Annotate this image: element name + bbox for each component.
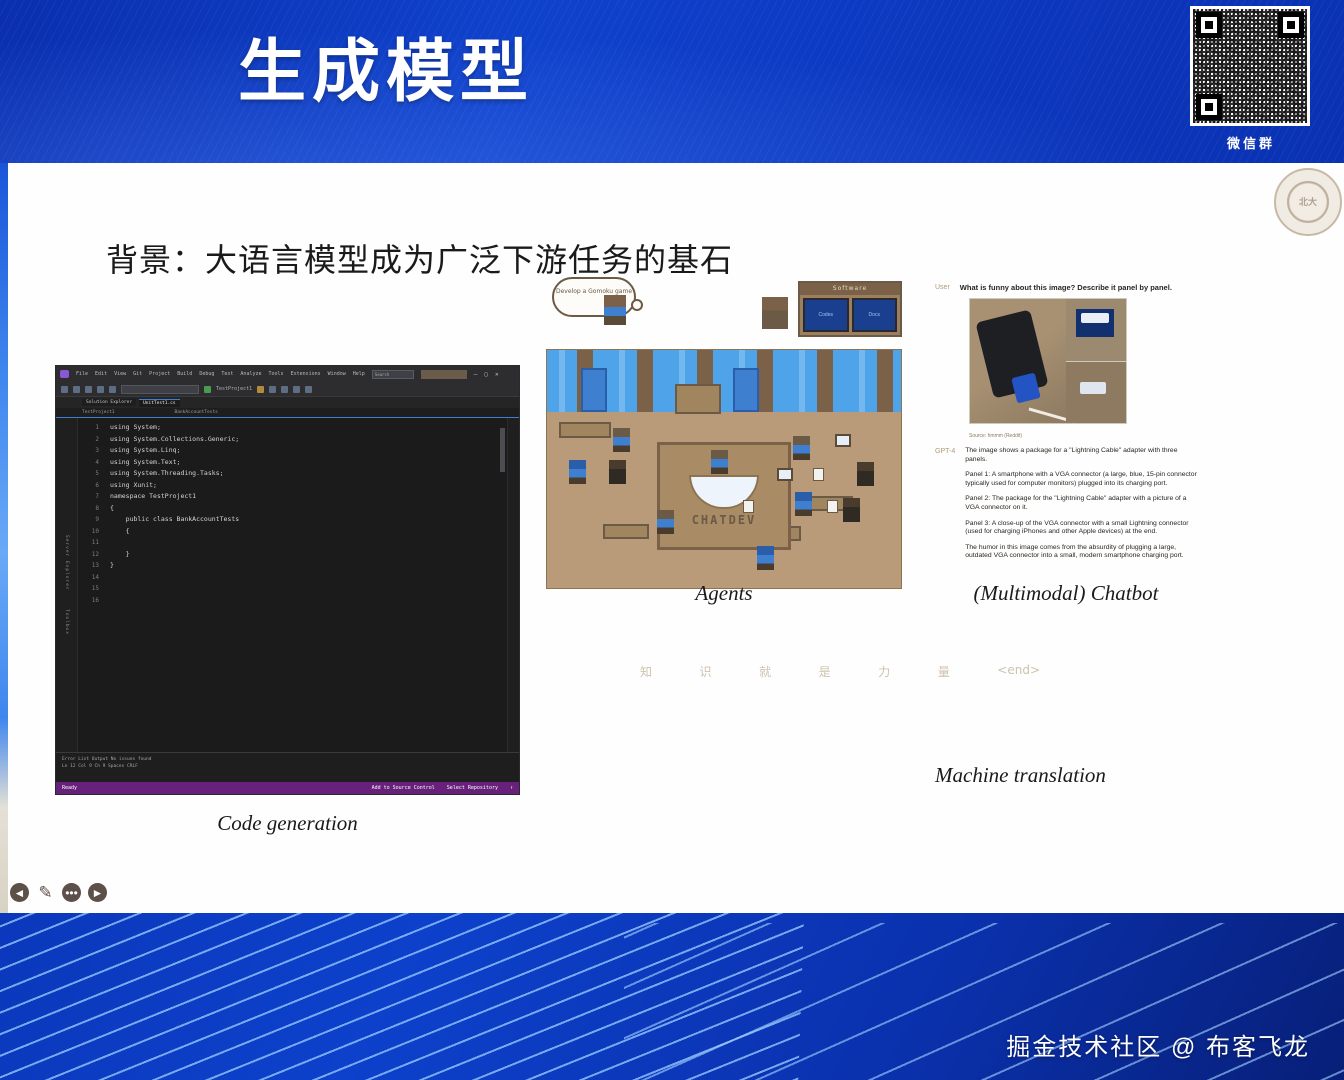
chat-assistant-turn: GPT-4 The image shows a package for a "L… [935,447,1197,568]
meme-panel-1 [970,299,1066,423]
pen-annotate-icon[interactable]: ✎ [36,883,55,902]
map-monitor [835,434,851,447]
line-number: 5 [78,468,104,480]
code-line: } [110,549,507,561]
agent-sprite-thinker [604,295,626,325]
ide-line-number-gutter: 1 2 3 4 5 6 7 8 9 10 11 12 13 14 15 16 [78,418,104,752]
map-door-left [581,368,607,412]
ide-menu-git[interactable]: Git [133,371,142,377]
ide-menu-help[interactable]: Help [353,371,365,377]
code-line: { [110,503,507,515]
wechat-qr-block[interactable]: 微信群 [1190,6,1312,152]
code-line: public class BankAccountTests [110,514,507,526]
line-number: 6 [78,480,104,492]
ide-tab-unittest1[interactable]: UnitTest1.cs [139,399,180,407]
line-number: 13 [78,560,104,572]
ide-menu-debug[interactable]: Debug [199,371,214,377]
agent-avatar [569,460,586,484]
footer-watermark: 掘金技术社区 @ 布客飞龙 [1006,1027,1310,1062]
ide-menu-view[interactable]: View [114,371,126,377]
ide-menu-edit[interactable]: Edit [95,371,107,377]
chat-figure-wrap: Source: hmmm (Reddit) [935,298,1197,439]
map-monitor [777,468,793,481]
configuration-dropdown[interactable] [121,385,199,394]
ide-error-list-panel: Error List Output No issues found Ln 12 … [56,752,519,782]
stop-icon[interactable] [269,386,276,393]
panel-agents: Develop a Gomoku game Software Codes Doc… [546,275,902,589]
map-door-center [733,368,759,412]
map-table-desk-left [603,524,649,539]
map-document-icon [813,468,824,481]
status-notifications-icon[interactable]: ↑ [510,785,513,791]
line-number: 2 [78,434,104,446]
software-screens: Codes Docs [800,295,900,335]
translation-token: 是 [819,663,831,680]
qr-finder-bottom-left [1196,94,1222,120]
ide-menu-window[interactable]: Window [328,371,346,377]
breadcrumb-namespace[interactable]: TestProject1 [82,410,115,415]
comment-icon[interactable] [281,386,288,393]
footer-banner: 掘金技术社区 @ 布客飞龙 [0,913,1344,1080]
line-number: 3 [78,445,104,457]
line-number: 14 [78,572,104,584]
screen-docs: Docs [852,298,898,332]
line-number: 4 [78,457,104,469]
run-play-icon[interactable] [204,386,211,393]
new-project-icon[interactable] [61,386,68,393]
meme-panel-2 [1066,299,1126,362]
line-number: 12 [78,549,104,561]
step-over-icon[interactable] [257,386,264,393]
next-slide-button[interactable]: ► [88,883,107,902]
qr-finder-top-left [1196,12,1222,38]
caption-code-generation: Code generation [55,811,520,836]
agents-upper-scene: Develop a Gomoku game Software Codes Doc… [546,275,902,349]
open-file-icon[interactable] [73,386,80,393]
translation-token: 量 [938,663,950,680]
caption-multimodal-chatbot: (Multimodal) Chatbot [935,581,1197,606]
save-all-icon[interactable] [97,386,104,393]
code-line: using System.Text; [110,457,507,469]
ide-maximize-button[interactable]: ▢ [484,371,488,378]
translation-token: 就 [759,663,771,680]
code-line [110,537,507,549]
figure-source-caption: Source: hmmm (Reddit) [969,433,1197,439]
agent-avatar [657,510,674,534]
agent-avatar [793,436,810,460]
code-line: using System.Collections.Generic; [110,434,507,446]
chat-assistant-body: The image shows a package for a "Lightni… [965,447,1197,568]
code-line: using System; [110,422,507,434]
agent-avatar [711,450,728,474]
caption-machine-translation: Machine translation [935,763,1315,788]
ide-close-button[interactable]: ✕ [495,371,499,378]
find-icon[interactable] [305,386,312,393]
chatdev-logo-text: CHATDEV [692,513,757,527]
vga-cable-meme-image [969,298,1127,424]
chat-user-turn: User What is funny about this image? Des… [935,283,1197,292]
ide-menu-test[interactable]: Test [221,371,233,377]
error-list-header: Error List Output No issues found [62,756,513,763]
slide-progress-rail[interactable] [0,163,8,913]
ide-tab-strip: Solution Explorer UnitTest1.cs [56,397,519,408]
visual-studio-logo-icon [60,370,69,378]
chat-user-label: User [935,283,950,291]
line-number: 9 [78,514,104,526]
ide-code-area[interactable]: using System; using System.Collections.G… [104,418,507,752]
header-banner: 生成模型 [0,0,1344,163]
page-title: 生成模型 [238,38,534,106]
translation-token: 识 [700,663,712,680]
seal-inner-glyph: 北大 [1287,181,1329,223]
lightning-cable-package [1076,309,1114,337]
bookmark-icon[interactable] [293,386,300,393]
ide-editor-body: Server Explorer Toolbox 1 2 3 4 5 6 7 8 … [56,418,519,752]
ide-toolbar: TestProject1 [56,382,519,397]
code-line: using System.Threading.Tasks; [110,468,507,480]
breadcrumb-class[interactable]: BankAccountTests [175,410,218,415]
answer-paragraph: The humor in this image comes from the a… [965,544,1197,561]
code-line: { [110,526,507,538]
status-right-group: Add to Source Control Select Repository … [372,785,513,791]
map-document-icon [743,500,754,513]
chat-gpt4-label: GPT-4 [935,447,955,455]
ide-run-target-label[interactable]: TestProject1 [216,386,252,392]
line-number: 11 [78,537,104,549]
translation-token-row: 知 识 就 是 力 量 <end> [640,663,1040,680]
ide-minimize-button[interactable]: — [474,371,478,378]
ide-minimap-rail[interactable] [507,418,519,752]
map-table-1 [559,422,611,438]
answer-paragraph: The image shows a package for a "Lightni… [965,447,1197,464]
answer-paragraph: Panel 3: A close-up of the VGA connector… [965,520,1197,537]
more-options-icon[interactable]: ••• [62,883,81,902]
ide-left-tool-rail[interactable]: Server Explorer Toolbox [56,418,78,752]
status-add-source-control[interactable]: Add to Source Control [372,785,435,791]
ide-breadcrumb: TestProject1 BankAccountTests [56,408,519,418]
agent-avatar [757,546,774,570]
software-building-sign: Software Codes Docs [798,281,902,337]
code-line: } [110,560,507,572]
ide-scrollbar-thumb[interactable] [500,428,505,472]
code-line: using System.Linq; [110,445,507,457]
caption-agents: Agents [546,581,902,606]
save-icon[interactable] [85,386,92,393]
chatdev-office-map: CHATDEV [546,349,902,589]
chat-user-question: What is funny about this image? Describe… [960,283,1172,292]
ide-search-input[interactable]: Search [372,370,414,379]
translation-token: 知 [640,663,652,680]
ide-menu-extensions[interactable]: Extensions [291,371,321,377]
answer-paragraph: Panel 1: A smartphone with a VGA connect… [965,471,1197,488]
code-line: using Xunit; [110,480,507,492]
line-number: 7 [78,491,104,503]
code-line: namespace TestProject1 [110,491,507,503]
agent-avatar [843,498,860,522]
map-document-icon [827,500,838,513]
agent-avatar [795,492,812,516]
lightning-connector-closeup [1080,382,1106,394]
line-number: 1 [78,422,104,434]
line-number: 10 [78,526,104,538]
agent-avatar [857,462,874,486]
ide-menu-project[interactable]: Project [149,371,170,377]
screen-codes: Codes [803,298,849,332]
ide-signin-button[interactable] [421,370,467,379]
ide-menu-bar: File Edit View Git Project Build Debug T… [56,366,519,382]
previous-slide-button[interactable]: ◄ [10,883,29,902]
university-seal-logo: 北大 [1274,168,1342,236]
software-sign-label: Software [800,283,900,295]
meme-panels-2-3 [1066,299,1126,423]
undo-icon[interactable] [109,386,116,393]
map-table-stairs [675,384,721,414]
agent-avatar [613,428,630,452]
meme-panel-3 [1066,362,1126,424]
status-select-repository[interactable]: Select Repository [447,785,498,791]
ide-status-bar: Ready Add to Source Control Select Repos… [56,782,519,794]
rail-toolbox[interactable]: Toolbox [64,609,69,635]
ide-menu-tools[interactable]: Tools [269,371,284,377]
qr-label: 微信群 [1190,133,1312,152]
panel-multimodal-chatbot: User What is funny about this image? Des… [935,283,1197,568]
ide-tab-solution-explorer[interactable]: Solution Explorer [82,399,136,406]
error-list-status: Ln 12 Col 9 Ch 9 Spaces CRLF [62,763,513,770]
panel-code-generation: File Edit View Git Project Build Debug T… [55,365,520,795]
status-ready-label: Ready [62,785,77,791]
translation-end-token: <end> [997,663,1040,680]
translation-token: 力 [878,663,890,680]
package-window [1081,313,1109,323]
qr-finder-top-right [1278,12,1304,38]
agent-sprite-walker [762,297,788,329]
agent-avatar [609,460,626,484]
slide-canvas: 背景：大语言模型成为广泛下游任务的基石 File Edit View Git P… [0,163,1344,913]
line-number: 8 [78,503,104,515]
answer-paragraph: Panel 2: The package for the "Lightning … [965,495,1197,512]
line-number: 15 [78,583,104,595]
rail-server-explorer[interactable]: Server Explorer [64,535,69,591]
qr-code-icon[interactable] [1190,6,1310,126]
visual-studio-screenshot: File Edit View Git Project Build Debug T… [55,365,520,795]
ide-menu-analyze[interactable]: Analyze [240,371,261,377]
line-number: 16 [78,595,104,607]
ide-menu-build[interactable]: Build [177,371,192,377]
ide-menu-file[interactable]: File [76,371,88,377]
slide-toolbar: ◄ ✎ ••• ► [10,883,107,902]
